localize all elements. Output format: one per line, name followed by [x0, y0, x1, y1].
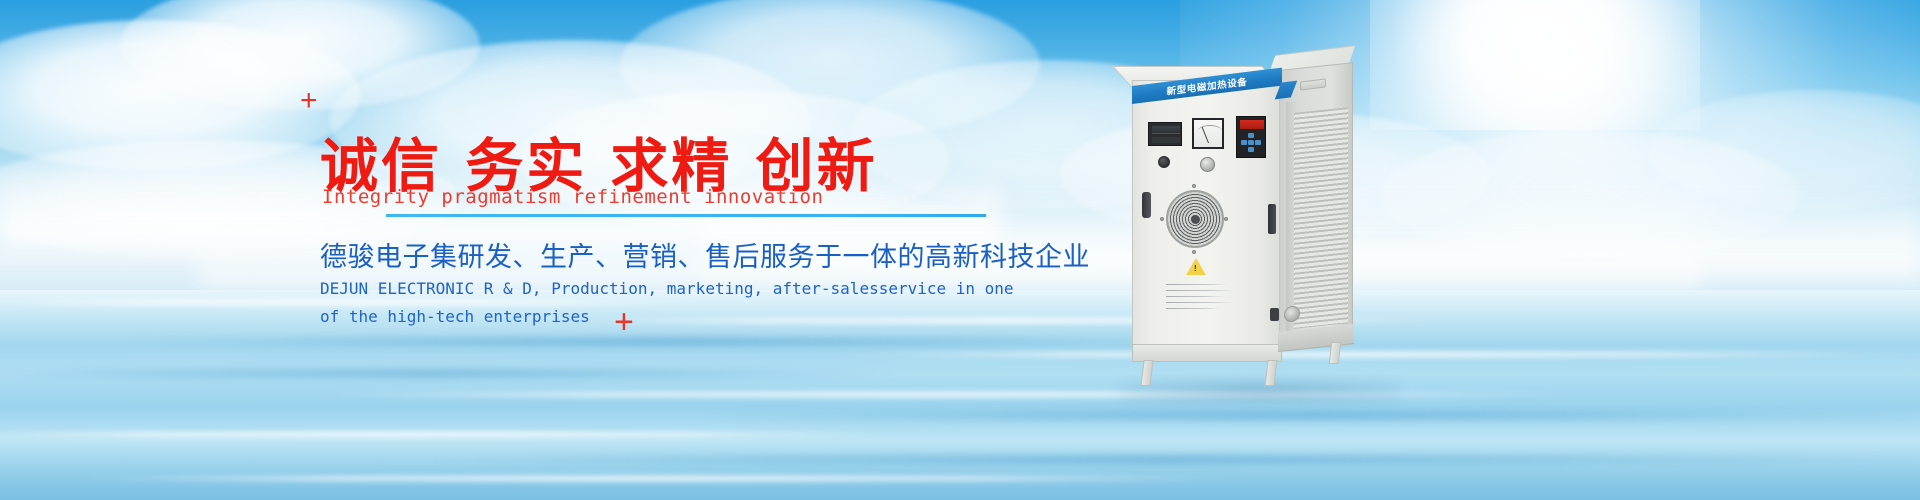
keypad-button[interactable] — [1255, 140, 1261, 145]
fan-screw — [1160, 217, 1164, 221]
digital-display — [1148, 122, 1182, 146]
machine-leg — [1140, 360, 1153, 386]
product-machine-image: 新型电磁加热设备 — [1118, 58, 1418, 388]
display-segment-row — [1152, 126, 1180, 134]
machine-leg — [1264, 360, 1277, 386]
adjustment-knob[interactable] — [1200, 157, 1215, 172]
fan-screw — [1192, 250, 1196, 254]
spec-line — [1166, 302, 1232, 303]
power-connector — [1270, 308, 1279, 321]
analog-gauge — [1192, 118, 1224, 149]
headline-english: Integrity pragmatism refinement innovati… — [322, 186, 823, 208]
spec-line — [1166, 290, 1234, 291]
warning-triangle-icon — [1186, 258, 1206, 275]
subheadline-chinese: 德骏电子集研发、生产、营销、售后服务于一体的高新科技企业 — [320, 235, 1090, 274]
display-segment-row — [1152, 137, 1180, 143]
body-english: DEJUN ELECTRONIC R & D, Production, mark… — [320, 275, 1014, 331]
keypad-button[interactable] — [1248, 140, 1254, 145]
promo-banner: + + 诚信 务实 求精 创新 Integrity pragmatism ref… — [0, 0, 1920, 500]
machine-base — [1132, 344, 1282, 362]
divider-line — [386, 214, 986, 217]
machine-spec-label — [1166, 284, 1236, 320]
body-english-line-1: DEJUN ELECTRONIC R & D, Production, mark… — [320, 275, 1014, 303]
plus-decoration-icon: + — [300, 86, 318, 116]
spec-line — [1166, 284, 1228, 285]
selector-knob[interactable] — [1158, 156, 1170, 168]
keypad-button[interactable] — [1241, 140, 1247, 145]
keypad-button[interactable] — [1248, 147, 1254, 152]
body-english-line-2: of the high-tech enterprises — [320, 303, 1014, 331]
machine-vent-slots — [1294, 107, 1348, 329]
spec-line — [1166, 296, 1224, 297]
keypad-display — [1240, 120, 1264, 129]
fan-screw — [1224, 217, 1228, 221]
cooling-fan-grille — [1166, 190, 1224, 248]
banner-copy: + + 诚信 务实 求精 创新 Integrity pragmatism ref… — [0, 0, 1920, 500]
spec-line — [1166, 308, 1220, 309]
control-keypad[interactable] — [1236, 116, 1266, 158]
keypad-button[interactable] — [1248, 133, 1254, 138]
fan-screw — [1192, 184, 1196, 188]
machine-handle-right[interactable] — [1268, 204, 1276, 234]
machine-leg — [1329, 342, 1342, 364]
machine-handle[interactable] — [1142, 192, 1151, 218]
